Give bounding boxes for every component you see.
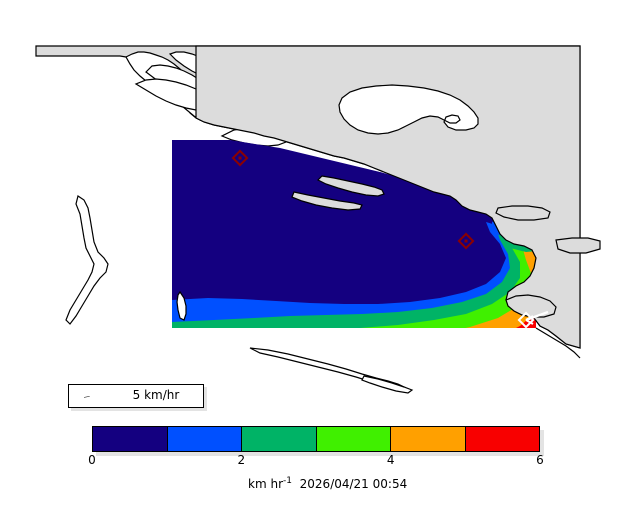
colorbar-segment-3-4[interactable] bbox=[317, 427, 392, 451]
colorbar-segment-0-1[interactable] bbox=[93, 427, 168, 451]
wind-scale-legend: 5 km/hr bbox=[68, 384, 204, 408]
colorbar[interactable] bbox=[92, 426, 540, 452]
colorbar-caption-spacer bbox=[292, 477, 300, 491]
colorbar-units-exponent: -1 bbox=[283, 476, 292, 486]
wind-barb-icon bbox=[79, 396, 95, 398]
screenshot-root: NanaimoWeather.ca -- Wind Speed bbox=[0, 0, 640, 480]
colorbar-segment-2-3[interactable] bbox=[242, 427, 317, 451]
wind-speed-map bbox=[0, 0, 640, 480]
station-dot-icon bbox=[465, 240, 468, 243]
colorbar-datetime: 2026/04/21 00:54 bbox=[300, 477, 408, 491]
station-dot-icon bbox=[239, 157, 242, 160]
colorbar-caption: km hr-1 2026/04/21 00:54 bbox=[0, 462, 640, 505]
colorbar-segment-5-6[interactable] bbox=[466, 427, 540, 451]
colorbar-units: km hr bbox=[248, 477, 283, 491]
wind-scale-label: 5 km/hr bbox=[113, 388, 199, 402]
wind-scale-legend-inner: 5 km/hr bbox=[69, 385, 203, 407]
channel-land-lower bbox=[556, 238, 600, 253]
colorbar-segment-1-2[interactable] bbox=[168, 427, 243, 451]
colorbar-segment-4-5[interactable] bbox=[391, 427, 466, 451]
